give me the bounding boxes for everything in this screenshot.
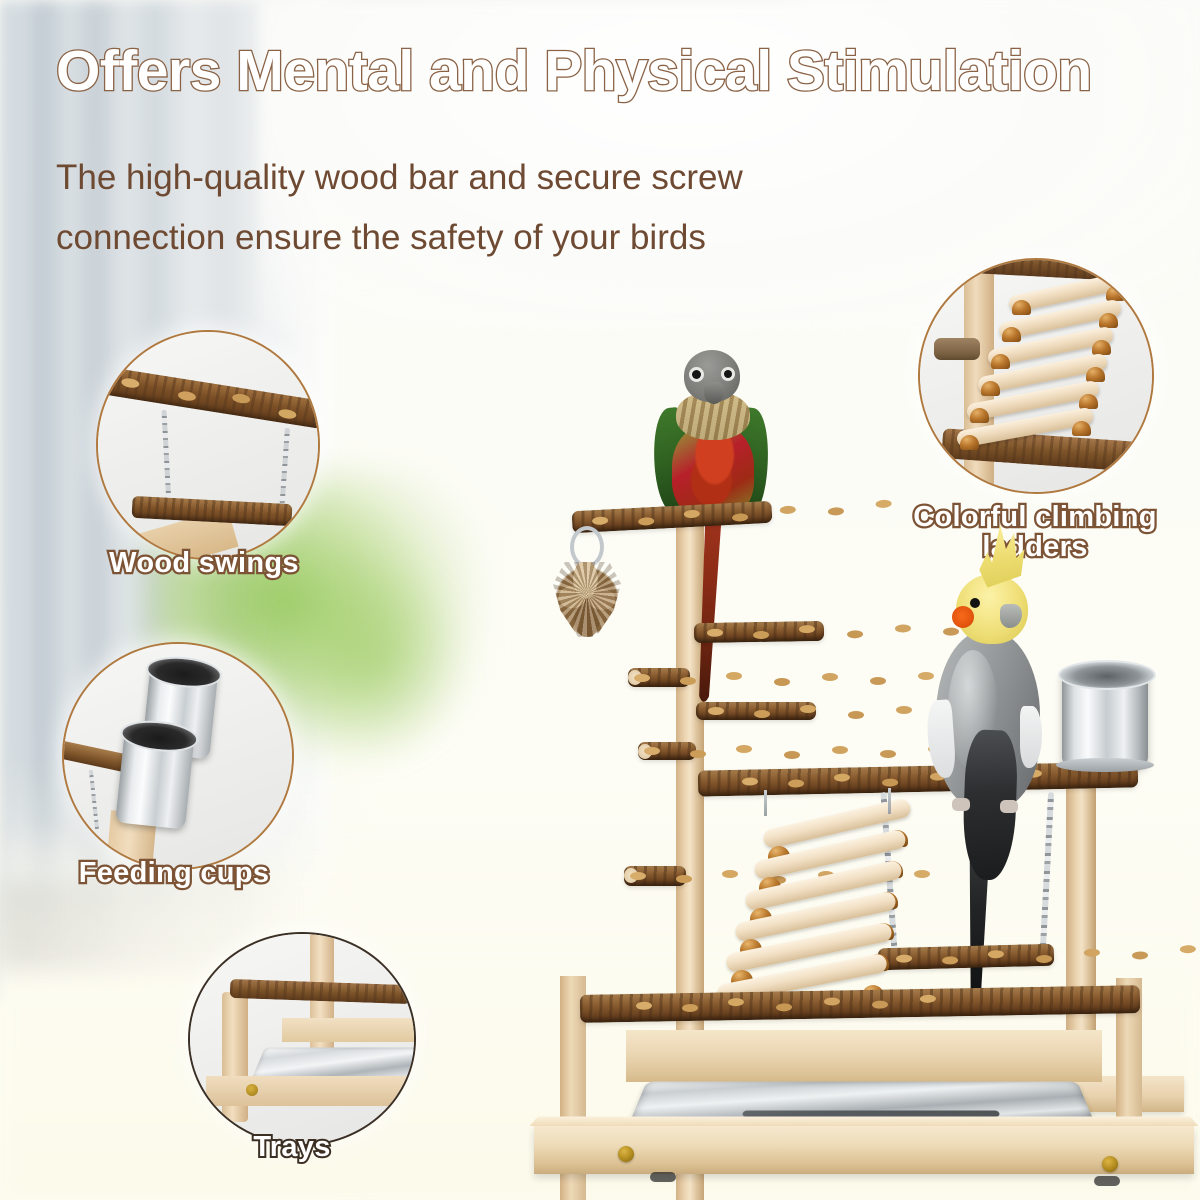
callout-label-trays: Trays [192,1132,392,1164]
page-subtitle: The high-quality wood bar and secure scr… [56,148,856,268]
branch-stub-1 [628,668,690,687]
callout-circle-feeding-cups [62,642,294,870]
screw-icon [618,1146,634,1162]
cut-end [624,868,638,883]
ladder-bead [1106,286,1125,301]
screw-icon [1102,1156,1118,1172]
cut-end [628,670,642,685]
branch-perch-mid-1 [694,621,824,643]
conure-eye-right [724,370,732,378]
wooden-climbing-ladder [716,800,946,1000]
background-green-plant-blur-2 [285,560,465,760]
base-back-rail [626,1030,1102,1082]
branch-stub-3 [624,866,686,886]
callout-circle-trays [188,932,416,1146]
cockatiel-wing-bar-left [925,699,956,779]
wooden-base-frame [534,1030,1194,1190]
rubber-foot [650,1172,676,1182]
cockatiel-wing-bar-right [1020,706,1042,768]
ladder-bead [1012,300,1031,315]
cockatiel-foot-right [1000,800,1018,813]
subtitle-line-2: connection ensure the safety of your bir… [56,208,856,268]
branch-perch-mid-2 [696,702,816,720]
ladder-bead [1099,313,1118,328]
conure-eye-left [692,370,701,379]
infographic-canvas: Offers Mental and Physical Stimulation T… [0,0,1200,1200]
cockatiel-eye [970,598,980,608]
rubber-foot [1094,1176,1120,1186]
callout-circle-wood-swings [96,330,320,560]
pinecone-chew-toy [550,562,624,640]
callout-label-feeding-cups: Feeding cups [24,858,324,890]
ladder-hook-right [888,788,891,814]
wood-shelf [282,1018,416,1042]
conure-beak [704,382,724,404]
product-photo-bird-playstand [520,330,1200,1200]
page-title: Offers Mental and Physical Stimulation [56,42,1092,102]
wood-base-frame [206,1076,416,1106]
bottom-branch-perch [580,985,1140,1023]
branch-stub-2 [638,742,696,760]
cockatiel-foot-left [952,798,970,811]
metal-ring-icon [570,526,604,568]
callout-label-wood-swings: Wood swings [44,548,364,580]
cut-end [638,744,652,759]
ladder-hook-left [764,790,767,816]
subtitle-line-1: The high-quality wood bar and secure scr… [56,148,856,208]
screw-icon [246,1084,258,1096]
steel-cup-lower [115,727,195,830]
cockatiel-cheek-patch [952,606,974,628]
